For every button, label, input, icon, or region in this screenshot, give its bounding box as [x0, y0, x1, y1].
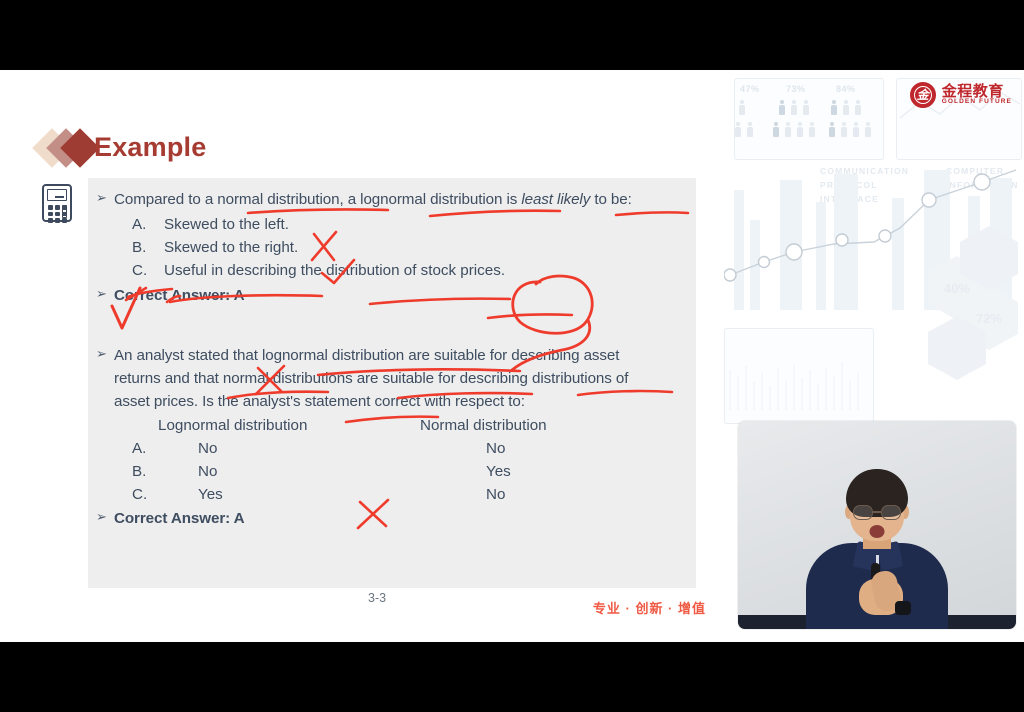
column-header-row: Lognormal distribution Normal distributi… [126, 414, 696, 437]
logo-seal-glyph: 金 [917, 89, 929, 101]
answer-row: ➢ Correct Answer: A [88, 282, 696, 307]
brand-tagline: 专业 · 创新 · 增值 [593, 598, 706, 617]
bullet-arrow-icon: ➢ [88, 344, 114, 364]
decor-percent-2: 73% [786, 84, 806, 94]
decor-person-icon [796, 122, 804, 138]
option-left-value: No [164, 437, 426, 460]
question-block-2: ➢ An analyst stated that lognormal distr… [88, 344, 696, 530]
logo-text: 金程教育 GOLDEN FUTURE [942, 84, 1012, 107]
option-right-value: Yes [426, 460, 511, 483]
bullet-arrow-icon: ➢ [88, 507, 114, 527]
decor-bar [892, 198, 904, 310]
calculator-key [62, 205, 67, 210]
logo-seal-icon: 金 [910, 82, 936, 108]
decor-word-computer: COMPUTER [946, 166, 1004, 176]
decor-people-card [734, 78, 884, 160]
presenter-video[interactable] [738, 421, 1016, 629]
option-text: Skewed to the right. [164, 236, 298, 259]
decor-person-icon [842, 100, 850, 116]
calculator-icon [42, 184, 72, 222]
question-prompt-emphasis: least likely [521, 191, 590, 208]
calculator-screen [47, 189, 67, 201]
brand-logo: 金 金程教育 GOLDEN FUTURE [910, 82, 1012, 108]
decor-bar [816, 202, 826, 310]
question-block-1: ➢ Compared to a normal distribution, a l… [88, 188, 696, 307]
option-left-value: No [164, 460, 426, 483]
decor-person-icon [830, 100, 838, 116]
decor-person-icon [802, 100, 810, 116]
page-title: Example [94, 132, 206, 163]
decor-hexagon [960, 226, 1018, 290]
calculator-key [62, 218, 67, 223]
presenter-mouth [870, 525, 885, 538]
option-letter: A. [132, 213, 164, 236]
decor-person-icon [840, 122, 848, 138]
option-text: Skewed to the left. [164, 213, 289, 236]
correct-answer: Correct Answer: A [114, 507, 245, 530]
decor-word-interface: INTERFACE [820, 194, 879, 204]
presenter-glasses-left [853, 505, 873, 520]
decor-line-chart [724, 70, 1024, 442]
decor-word-communication: COMMUNICATION [820, 166, 909, 176]
decor-person-icon [864, 122, 872, 138]
decor-hexagon [928, 316, 986, 380]
letterbox-top [0, 0, 1024, 70]
letterbox-bottom [0, 642, 1024, 712]
slide-heading: Example [38, 132, 206, 163]
decor-hexagon-percent: 72% [960, 286, 1018, 350]
option-right-value: No [426, 437, 505, 460]
option-text: Useful in describing the distribution of… [164, 259, 505, 282]
decor-person-icon [784, 122, 792, 138]
decor-person-icon [772, 122, 780, 138]
calculator-key [62, 212, 67, 217]
decor-person-icon [738, 100, 746, 116]
presenter-watch [895, 601, 911, 615]
logo-name-cn: 金程教育 [942, 84, 1012, 100]
decor-percent-1: 47% [740, 84, 760, 94]
decor-person-icon [808, 122, 816, 138]
option-letter: A. [132, 437, 164, 460]
decor-bar [734, 190, 744, 310]
table-row[interactable]: C. Yes No [126, 483, 696, 506]
decor-person-icon [828, 122, 836, 138]
calculator-key [48, 212, 53, 217]
question-prompt: Compared to a normal distribution, a log… [114, 188, 662, 211]
presentation-slide: 47% 73% 84% COMMUNICATION PROTOCOL INTER… [0, 70, 1024, 642]
table-row[interactable]: A. No No [126, 437, 696, 460]
question-prompt-row: ➢ Compared to a normal distribution, a l… [88, 188, 696, 211]
column-header-lognormal: Lognormal distribution [158, 414, 420, 437]
presenter-glasses-right [881, 505, 901, 520]
decor-person-icon [778, 100, 786, 116]
decor-word-protocol: PROTOCOL [820, 180, 878, 190]
decor-bar-chart-card [724, 328, 874, 424]
screen-root: 47% 73% 84% COMMUNICATION PROTOCOL INTER… [0, 0, 1024, 712]
option-row[interactable]: B. Skewed to the right. [132, 236, 696, 259]
option-letter: C. [132, 483, 164, 506]
answer-row: ➢ Correct Answer: A [88, 506, 696, 530]
calculator-key [48, 218, 53, 223]
page-number: 3-3 [368, 591, 386, 605]
logo-name-en: GOLDEN FUTURE [942, 99, 1012, 106]
presenter-glasses-bridge [873, 511, 881, 513]
answer-table: Lognormal distribution Normal distributi… [88, 413, 696, 506]
question-prompt-part1: Compared to a normal distribution, a log… [114, 191, 521, 208]
option-letter: C. [132, 259, 164, 282]
decor-bar [780, 180, 802, 310]
question-prompt-part2: to be: [590, 191, 632, 208]
decor-person-icon [852, 122, 860, 138]
decor-bar [834, 174, 858, 310]
option-row[interactable]: C. Useful in describing the distribution… [132, 259, 696, 282]
decor-bar [750, 220, 760, 310]
decor-hexagon-percent: 40% [928, 256, 986, 320]
calculator-key [48, 205, 53, 210]
decor-bar [990, 178, 1012, 310]
bullet-arrow-icon: ➢ [88, 284, 114, 304]
calculator-key [55, 218, 60, 223]
decorative-background: 47% 73% 84% COMMUNICATION PROTOCOL INTER… [724, 70, 1024, 442]
decor-bar [924, 170, 950, 310]
option-right-value: No [426, 483, 505, 506]
decor-person-icon [746, 122, 754, 138]
decor-bar [968, 196, 980, 310]
question-prompt: An analyst stated that lognormal distrib… [114, 344, 666, 413]
spacer [126, 414, 158, 437]
question-prompt-row: ➢ An analyst stated that lognormal distr… [88, 344, 696, 413]
decor-person-icon [790, 100, 798, 116]
decor-word-information: INFORMATION [946, 180, 1019, 190]
option-left-value: Yes [164, 483, 426, 506]
bullet-arrow-icon: ➢ [88, 188, 114, 208]
decor-percent-3: 84% [836, 84, 856, 94]
content-panel: ➢ Compared to a normal distribution, a l… [88, 178, 696, 588]
calculator-key [55, 205, 60, 210]
option-row[interactable]: A. Skewed to the left. [132, 213, 696, 236]
table-row[interactable]: B. No Yes [126, 460, 696, 483]
column-header-normal: Normal distribution [420, 414, 547, 437]
option-letter: B. [132, 236, 164, 259]
decor-person-icon [854, 100, 862, 116]
calculator-key [55, 212, 60, 217]
correct-answer: Correct Answer: A [114, 284, 245, 307]
option-letter: B. [132, 460, 164, 483]
options-list: A. Skewed to the left. B. Skewed to the … [88, 211, 696, 282]
decor-person-icon [734, 122, 742, 138]
